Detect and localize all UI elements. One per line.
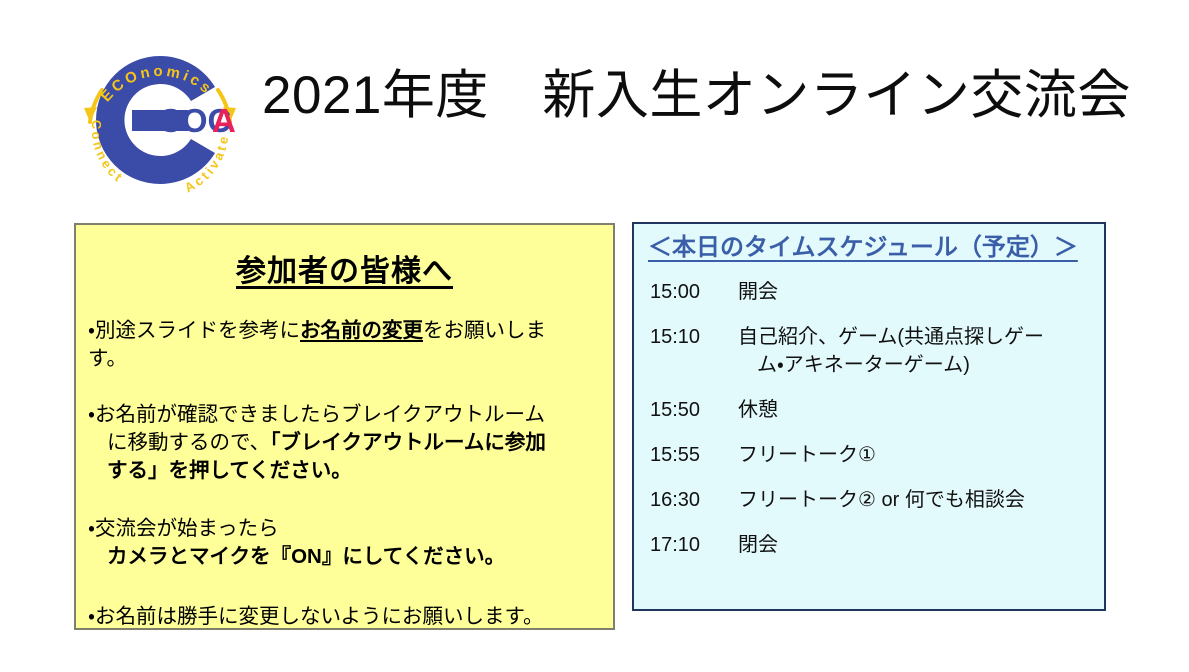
notice-text-run: ・別途スライドを参考に — [88, 319, 300, 342]
schedule-time: 15:55 — [650, 441, 738, 469]
ecoca-logo-graphic: COC A ECOnomics Connect Activate — [72, 36, 248, 204]
notice-text-run: 「ブレイクアウトルームに参加 — [270, 431, 546, 454]
notice-text-run: ・お名前は勝手に変更しないようにお願いします。 — [88, 605, 544, 628]
schedule-event: 開会 — [738, 278, 1096, 306]
schedule-row: 16:30フリートーク② or 何でも相談会 — [650, 486, 1096, 514]
time-schedule-panel: ＜本日のタイムスケジュール（予定）＞ 15:00開会15:10自己紹介、ゲーム(… — [632, 222, 1106, 611]
notice-item: ・お名前は勝手に変更しないようにお願いします。 — [76, 603, 613, 631]
ecoca-logo: COC A ECOnomics Connect Activate — [72, 36, 248, 204]
schedule-row: 15:50休憩 — [650, 396, 1096, 424]
schedule-event: 閉会 — [738, 531, 1096, 559]
schedule-event-line: 開会 — [738, 278, 1096, 306]
schedule-time: 15:50 — [650, 396, 738, 424]
notice-text-run: す。 — [88, 347, 127, 370]
schedule-heading: ＜本日のタイムスケジュール（予定）＞ — [648, 232, 1090, 264]
notice-text-run: ・お名前が確認できましたらブレイクアウトルーム — [88, 403, 545, 426]
schedule-event-line: フリートーク① — [738, 441, 1096, 469]
notice-item: ・交流会が始まったらカメラとマイクを『ON』にしてください。 — [76, 515, 613, 571]
schedule-list: 15:00開会15:10自己紹介、ゲーム(共通点探しゲーム・アキネーターゲーム)… — [634, 264, 1104, 559]
svg-text:A: A — [212, 102, 236, 139]
schedule-event: 休憩 — [738, 396, 1096, 424]
schedule-time: 17:10 — [650, 531, 738, 559]
notice-text-run: する」を押してください。 — [107, 459, 352, 482]
schedule-row: 15:00開会 — [650, 278, 1096, 306]
schedule-time: 15:00 — [650, 278, 738, 306]
notice-text-run: カメラとマイクを『ON』にしてください。 — [107, 545, 505, 568]
schedule-row: 15:10自己紹介、ゲーム(共通点探しゲーム・アキネーターゲーム) — [650, 323, 1096, 379]
schedule-time: 16:30 — [650, 486, 738, 514]
notice-line: す。 — [88, 345, 603, 373]
notice-text-run: をお願いしま — [423, 319, 546, 342]
notice-line: に移動するので、「ブレイクアウトルームに参加 — [88, 429, 603, 457]
notice-line: カメラとマイクを『ON』にしてください。 — [88, 543, 603, 571]
schedule-row: 17:10閉会 — [650, 531, 1096, 559]
notice-text-run: お名前の変更 — [300, 319, 423, 342]
schedule-event: フリートーク① — [738, 441, 1096, 469]
participant-notice-panel: 参加者の皆様へ ・別途スライドを参考にお名前の変更をお願いします。・お名前が確認… — [74, 223, 615, 630]
schedule-event-line: フリートーク② or 何でも相談会 — [738, 486, 1096, 514]
schedule-row: 15:55フリートーク① — [650, 441, 1096, 469]
notice-line: する」を押してください。 — [88, 457, 603, 485]
notice-line: ・お名前が確認できましたらブレイクアウトルーム — [88, 401, 603, 429]
page-title: 2021年度 新入生オンライン交流会 — [262, 52, 1102, 144]
schedule-event-line: 自己紹介、ゲーム(共通点探しゲー — [738, 323, 1096, 351]
schedule-event-line: ム・アキネーターゲーム) — [738, 351, 1096, 379]
notice-line: ・お名前は勝手に変更しないようにお願いします。 — [88, 603, 603, 631]
schedule-event: フリートーク② or 何でも相談会 — [738, 486, 1096, 514]
schedule-event: 自己紹介、ゲーム(共通点探しゲーム・アキネーターゲーム) — [738, 323, 1096, 379]
schedule-event-line: 閉会 — [738, 531, 1096, 559]
notice-item: ・別途スライドを参考にお名前の変更をお願いします。 — [76, 317, 613, 373]
schedule-time: 15:10 — [650, 323, 738, 351]
notice-line: ・交流会が始まったら — [88, 515, 603, 543]
notice-item: ・お名前が確認できましたらブレイクアウトルームに移動するので、「ブレイクアウトル… — [76, 401, 613, 485]
notice-line: ・別途スライドを参考にお名前の変更をお願いしま — [88, 317, 603, 345]
notice-list: ・別途スライドを参考にお名前の変更をお願いします。・お名前が確認できましたらブレ… — [76, 317, 613, 631]
schedule-event-line: 休憩 — [738, 396, 1096, 424]
notice-text-run: に移動するので、 — [107, 431, 270, 454]
slide-header: COC A ECOnomics Connect Activate 2021年度 … — [0, 0, 1189, 210]
notice-text-run: ・交流会が始まったら — [88, 517, 279, 540]
notice-heading: 参加者の皆様へ — [76, 255, 613, 289]
